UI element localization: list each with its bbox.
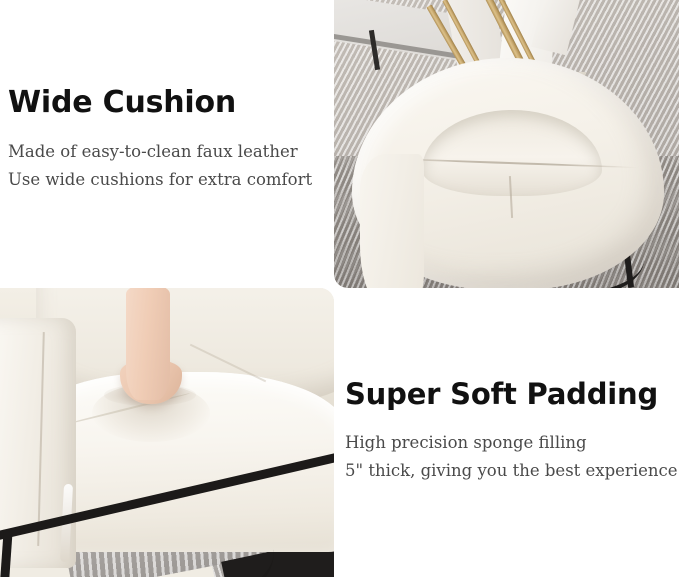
feature-line-wide-cushion-1: Made of easy-to-clean faux leather [8,144,312,161]
feature-block-super-soft-padding: Super Soft Padding High precision sponge… [345,380,678,479]
chair-frame-post [0,530,12,577]
feature-block-wide-cushion: Wide Cushion Made of easy-to-clean faux … [8,88,312,188]
feature-line-wide-cushion-2: Use wide cushions for extra comfort [8,172,312,189]
feature-line-super-soft-2: 5" thick, giving you the best experience [345,463,678,480]
chair-inner-seat [422,110,602,196]
collage-canvas: Wide Cushion Made of easy-to-clean faux … [0,0,679,577]
forearm [126,288,170,400]
feature-headline-super-soft-padding: Super Soft Padding [345,380,678,409]
photo-cushion-press [0,288,334,577]
chair-arm-left [360,154,424,288]
feature-headline-wide-cushion: Wide Cushion [8,88,312,118]
feature-line-super-soft-1: High precision sponge filling [345,435,678,452]
photo-chair-back [334,0,679,288]
